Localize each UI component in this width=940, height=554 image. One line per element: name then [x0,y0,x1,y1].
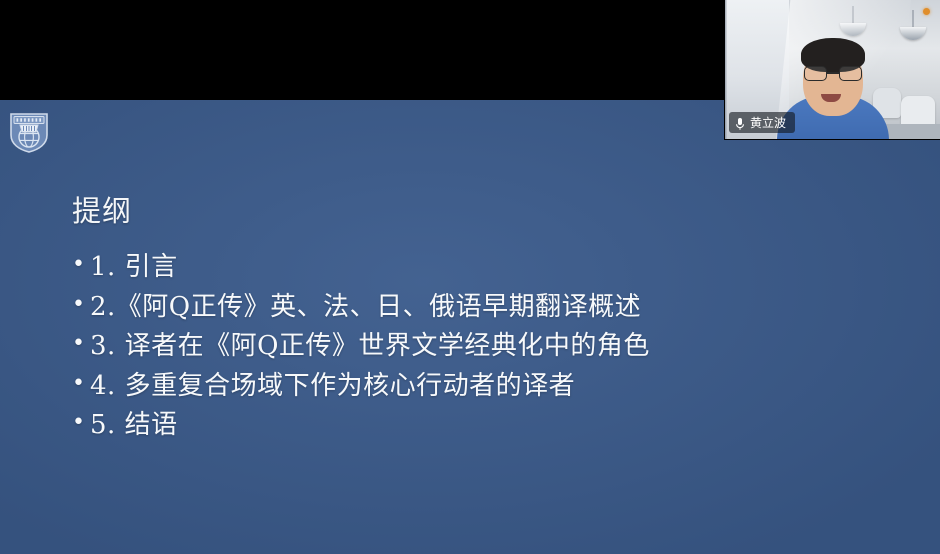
glasses-icon [804,66,862,81]
participant-video-tile[interactable]: 黄立波 [724,0,940,140]
outline-item-3: 3. 译者在《阿Q正传》世界文学经典化中的角色 [72,327,902,367]
outline-item-1: 1. 引言 [72,248,902,288]
slide-content: 提纲 1. 引言 2.《阿Q正传》英、法、日、俄语早期翻译概述 3. 译者在《阿… [72,195,902,446]
university-crest-logo [9,111,49,153]
outline-item-2: 2.《阿Q正传》英、法、日、俄语早期翻译概述 [72,288,902,328]
participant-name-label: 黄立波 [750,117,786,129]
microphone-icon [735,116,745,130]
outline-list: 1. 引言 2.《阿Q正传》英、法、日、俄语早期翻译概述 3. 译者在《阿Q正传… [72,248,902,446]
outline-item-4: 4. 多重复合场域下作为核心行动者的译者 [72,367,902,407]
recording-status-dot [923,8,930,15]
slide-title: 提纲 [72,195,902,228]
screen-share-window: 提纲 1. 引言 2.《阿Q正传》英、法、日、俄语早期翻译概述 3. 译者在《阿… [0,0,940,554]
presentation-slide[interactable]: 提纲 1. 引言 2.《阿Q正传》英、法、日、俄语早期翻译概述 3. 译者在《阿… [0,100,940,554]
participant-nameplate: 黄立波 [729,112,795,133]
outline-item-5: 5. 结语 [72,406,902,446]
